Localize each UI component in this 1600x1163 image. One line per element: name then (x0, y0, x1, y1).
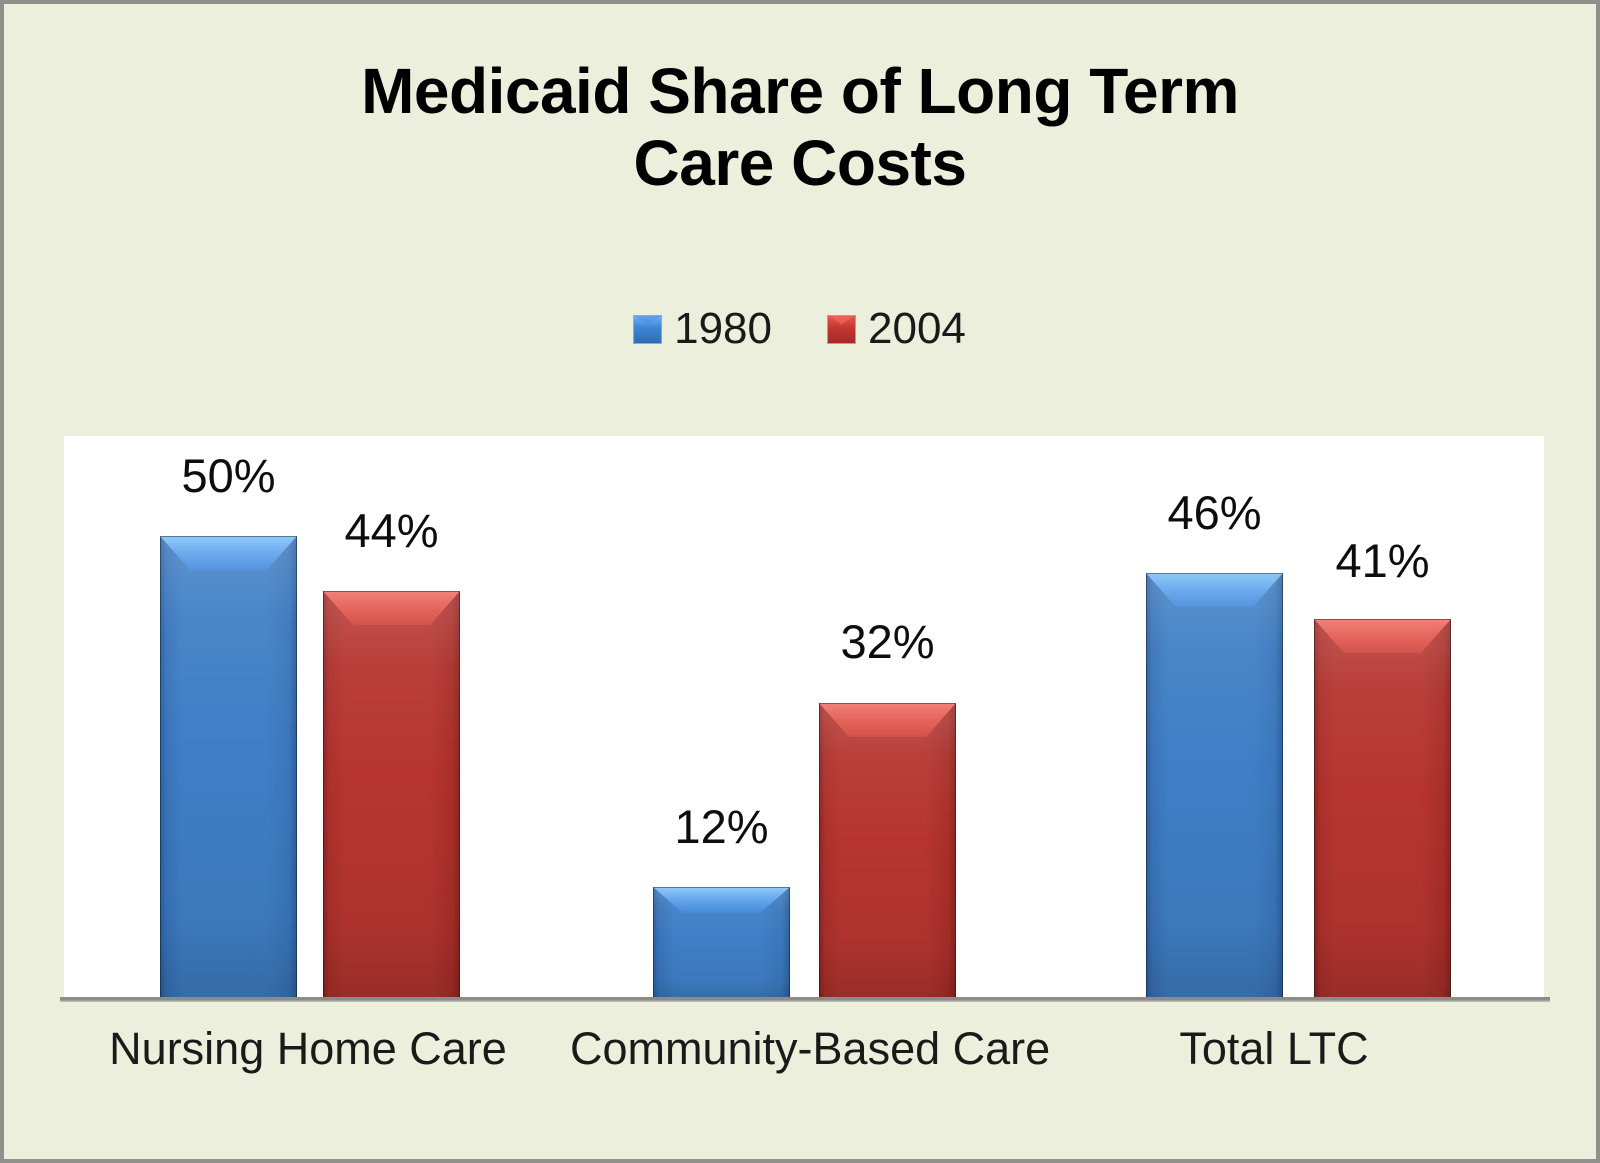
bar-outline (323, 591, 460, 1000)
category-label-community-based-care: Community-Based Care (570, 1026, 1030, 1071)
category-label-nursing-home-care: Nursing Home Care (88, 1026, 528, 1071)
chart-figure: Medicaid Share of Long Term Care Costs 1… (0, 0, 1600, 1163)
plot-area (64, 436, 1544, 1000)
legend-swatch-red-icon (828, 316, 855, 343)
data-label-1980-community-based-care: 12% (653, 803, 790, 850)
bar-1980-community-based-care[interactable] (653, 887, 790, 1000)
bar-1980-total-ltc[interactable] (1146, 573, 1283, 1000)
bar-2004-community-based-care[interactable] (819, 703, 956, 1000)
data-label-1980-total-ltc: 46% (1146, 489, 1283, 536)
legend-item-1980[interactable]: 1980 (634, 307, 772, 351)
bar-outline (1146, 573, 1283, 1000)
bar-outline (653, 887, 790, 1000)
legend-label-1980: 1980 (674, 307, 772, 351)
data-label-2004-nursing-home-care: 44% (323, 507, 460, 554)
x-axis-line (60, 997, 1550, 1002)
legend-swatch-blue-icon (634, 316, 661, 343)
category-label-total-ltc: Total LTC (1054, 1026, 1494, 1071)
data-label-1980-nursing-home-care: 50% (160, 452, 297, 499)
bar-outline (160, 536, 297, 1000)
bar-outline (1314, 619, 1451, 1000)
bar-2004-total-ltc[interactable] (1314, 619, 1451, 1000)
bar-outline (819, 703, 956, 1000)
data-label-2004-total-ltc: 41% (1314, 537, 1451, 584)
bar-2004-nursing-home-care[interactable] (323, 591, 460, 1000)
chart-legend: 1980 2004 (4, 307, 1596, 351)
legend-label-2004: 2004 (868, 307, 966, 351)
legend-item-2004[interactable]: 2004 (828, 307, 966, 351)
data-label-2004-community-based-care: 32% (819, 618, 956, 665)
bar-1980-nursing-home-care[interactable] (160, 536, 297, 1000)
page-title: Medicaid Share of Long Term Care Costs (4, 56, 1596, 199)
